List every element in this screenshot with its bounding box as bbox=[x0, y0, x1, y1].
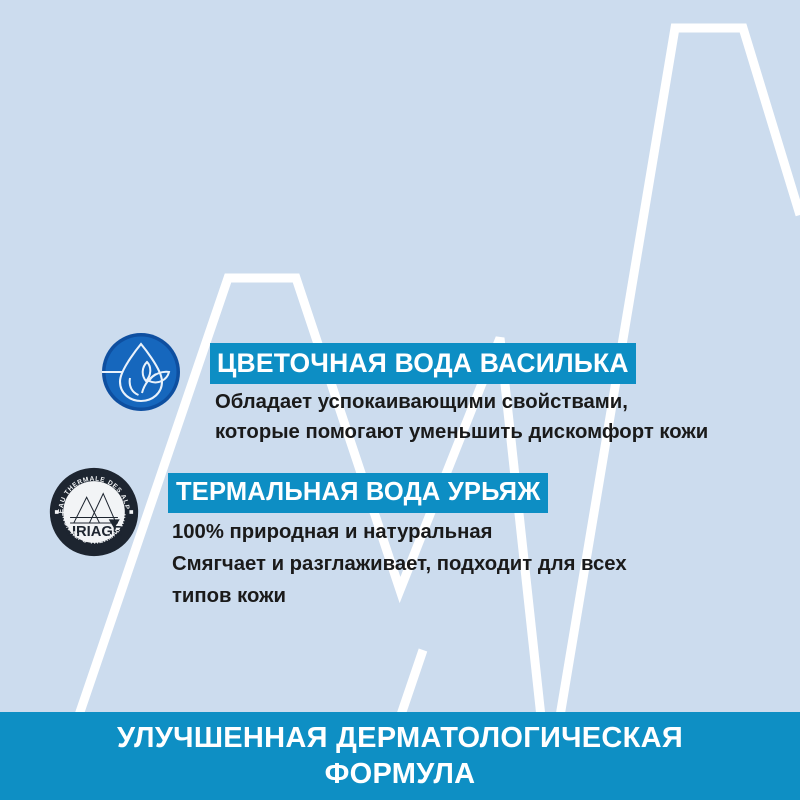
feature-flower-title: ЦВЕТОЧНАЯ ВОДА ВАСИЛЬКА bbox=[210, 343, 636, 384]
feature-flower-body-line-1: Обладает успокаивающими свойствами, bbox=[215, 387, 800, 417]
feature-thermal-body-line-1: 100% природная и натуральная bbox=[172, 516, 788, 548]
feature-flower-text: ЦВЕТОЧНАЯ ВОДА ВАСИЛЬКА Обладает успокаи… bbox=[210, 343, 800, 447]
bottom-banner: УЛУЧШЕННАЯ ДЕРМАТОЛОГИЧЕСКАЯ ФОРМУЛА bbox=[0, 712, 800, 800]
feature-thermal-body-line-3: типов кожи bbox=[172, 580, 788, 612]
bottom-banner-line-2: ФОРМУЛА bbox=[325, 756, 476, 792]
feature-thermal-body-line-2: Смягчает и разглаживает, подходит для вс… bbox=[172, 548, 788, 580]
poster-canvas: ЦВЕТОЧНАЯ ВОДА ВАСИЛЬКА Обладает успокаи… bbox=[0, 0, 800, 800]
feature-thermal-title: ТЕРМАЛЬНАЯ ВОДА УРЬЯЖ bbox=[168, 473, 548, 513]
feature-flower-body: Обладает успокаивающими свойствами, кото… bbox=[210, 387, 800, 447]
uriage-logo-icon: URIAGE L'EAU THERMALE DES ALPES FRENCH A… bbox=[48, 466, 140, 558]
water-drop-leaf-icon bbox=[100, 331, 182, 413]
bottom-banner-line-1: УЛУЧШЕННАЯ ДЕРМАТОЛОГИЧЕСКАЯ bbox=[117, 720, 683, 756]
feature-thermal-text: ТЕРМАЛЬНАЯ ВОДА УРЬЯЖ 100% природная и н… bbox=[168, 473, 788, 612]
feature-flower-body-line-2: которые помогают уменьшить дискомфорт ко… bbox=[215, 417, 800, 447]
feature-thermal-body: 100% природная и натуральная Смягчает и … bbox=[168, 516, 788, 612]
